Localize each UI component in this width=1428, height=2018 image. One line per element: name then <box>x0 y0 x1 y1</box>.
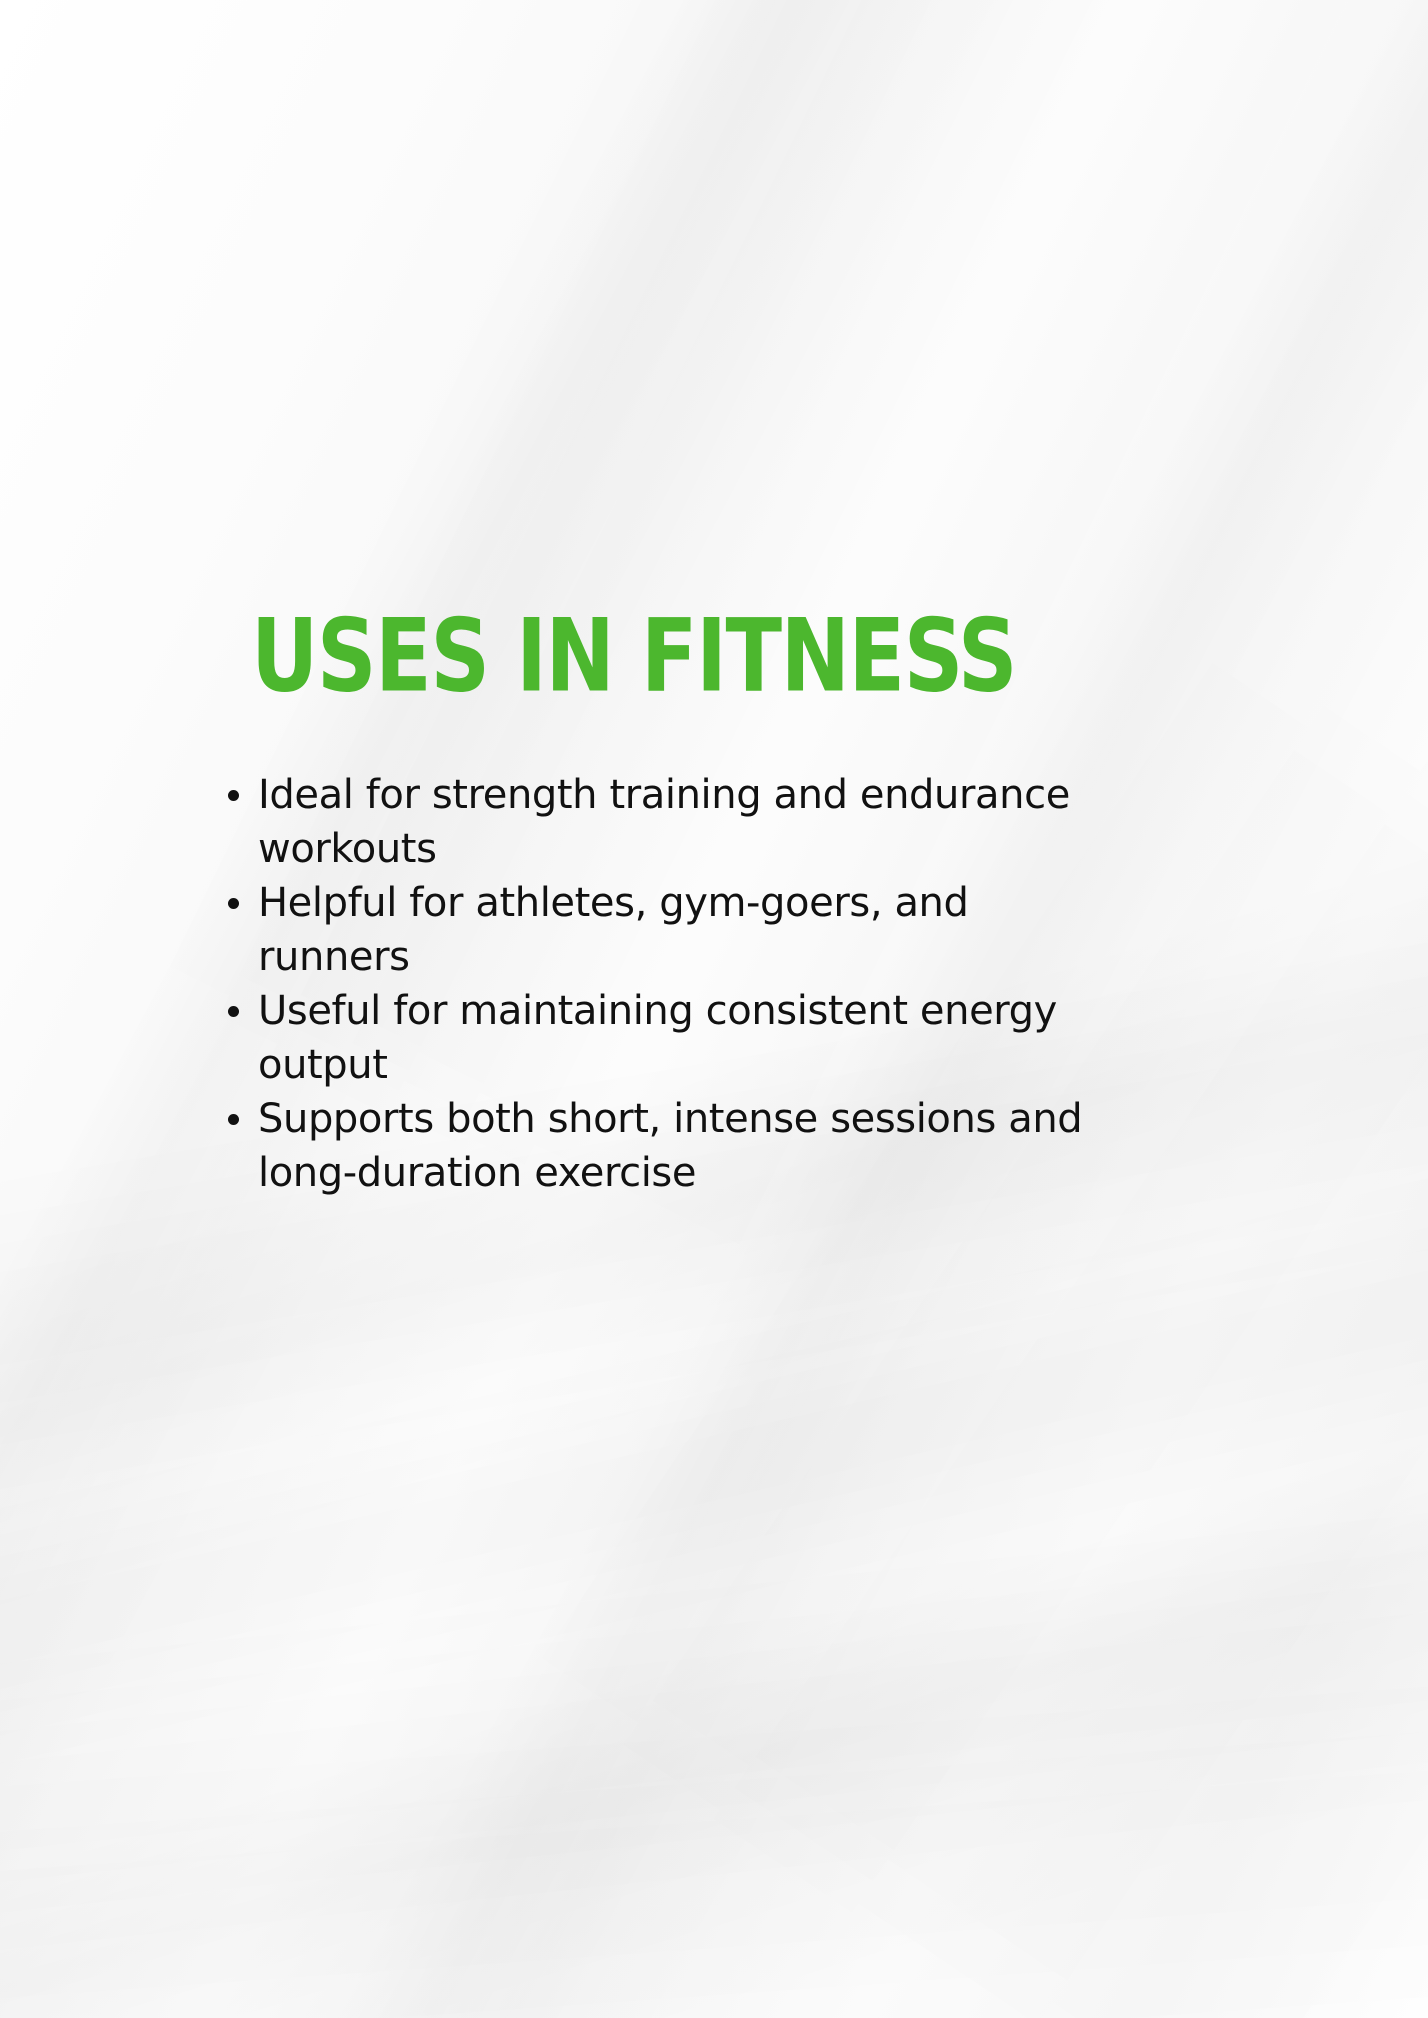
feature-bullet-list: Ideal for strength training and enduranc… <box>228 768 1108 1200</box>
list-item-label: Supports both short, intense sessions an… <box>258 1096 1082 1196</box>
bullet-point-icon <box>228 1006 239 1017</box>
list-item: Helpful for athletes, gym-goers, and run… <box>228 876 1108 984</box>
list-item-label: Ideal for strength training and enduranc… <box>258 772 1070 872</box>
bullet-point-icon <box>228 898 239 909</box>
list-item-label: Useful for maintaining consistent energy… <box>258 988 1057 1088</box>
bullet-point-icon <box>228 790 239 801</box>
list-item: Useful for maintaining consistent energy… <box>228 984 1108 1092</box>
slide-content: USES IN FITNESS Ideal for strength train… <box>0 0 1428 2018</box>
bullet-point-icon <box>228 1114 239 1125</box>
slide-canvas: USES IN FITNESS Ideal for strength train… <box>0 0 1428 2018</box>
list-item: Supports both short, intense sessions an… <box>228 1092 1108 1200</box>
list-item-label: Helpful for athletes, gym-goers, and run… <box>258 880 969 980</box>
list-item: Ideal for strength training and enduranc… <box>228 768 1108 876</box>
slide-title: USES IN FITNESS <box>251 606 1016 707</box>
